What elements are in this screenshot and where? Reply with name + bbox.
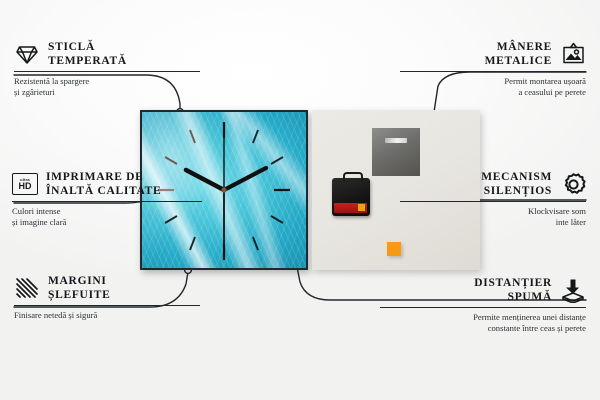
feature-description: Culori intense și imagine clară [12,206,202,229]
feature-divider [14,305,200,306]
feature-heading: STICLĂ TEMPERATĂ [14,40,200,68]
feature-divider [14,71,200,72]
feature-metal-handles: MÂNERE METALICE Permit montarea ușoară a… [400,40,586,99]
foam-spacer-part [387,242,401,256]
ultra-hd-icon: ultra HD [12,171,38,197]
feature-polished-edges: MARGINI ȘLEFUITE Finisare netedă și sigu… [14,274,200,321]
feature-description: Permite menținerea unei distanțe constan… [380,312,586,335]
feature-heading: DISTANȚIER SPUMĂ [380,276,586,304]
feature-heading: MARGINI ȘLEFUITE [14,274,200,302]
gear-icon [560,171,586,197]
feature-title: MARGINI ȘLEFUITE [48,274,110,302]
infographic-canvas: STICLĂ TEMPERATĂ Rezistentă la spargere … [0,0,600,400]
feature-heading: MÂNERE METALICE [400,40,586,68]
feature-description: Klockvisare som inte låter [400,206,586,229]
feature-foam-spacer: DISTANȚIER SPUMĂ Permite menținerea unei… [380,276,586,335]
feature-divider [12,201,202,202]
press-down-pad-icon [560,277,586,303]
feature-title: IMPRIMARE DE ÎNALTĂ CALITATE [46,170,161,198]
feature-title: MECANISM SILENȚIOS [481,170,552,198]
metal-hanger-part [372,128,420,176]
diamond-icon [14,41,40,67]
feature-divider [400,201,586,202]
feature-silent-mechanism: MECANISM SILENȚIOS Klockvisare som inte … [400,170,586,229]
feature-description: Rezistentă la spargere și zgârieturi [14,76,200,99]
feature-description: Finisare netedă și sigură [14,310,200,321]
feature-heading: MECANISM SILENȚIOS [400,170,586,198]
feature-title: DISTANȚIER SPUMĂ [474,276,552,304]
feature-divider [400,71,586,72]
feature-divider [380,307,586,308]
feature-high-quality-print: ultra HD IMPRIMARE DE ÎNALTĂ CALITATE Cu… [12,170,202,229]
feature-tempered-glass: STICLĂ TEMPERATĂ Rezistentă la spargere … [14,40,200,99]
quartz-mechanism-part [332,178,370,216]
hatch-lines-icon [14,275,40,301]
feature-title: STICLĂ TEMPERATĂ [48,40,127,68]
framed-picture-hanger-icon [560,41,586,67]
feature-heading: ultra HD IMPRIMARE DE ÎNALTĂ CALITATE [12,170,202,198]
hanger-slot [385,138,407,143]
feature-description: Permit montarea ușoară a ceasului pe per… [400,76,586,99]
feature-title: MÂNERE METALICE [485,40,552,68]
ultra-hd-icon-label: HD [19,182,32,191]
mechanism-tab [343,172,363,182]
battery-plus-terminal [358,204,365,211]
battery-part [334,203,367,213]
